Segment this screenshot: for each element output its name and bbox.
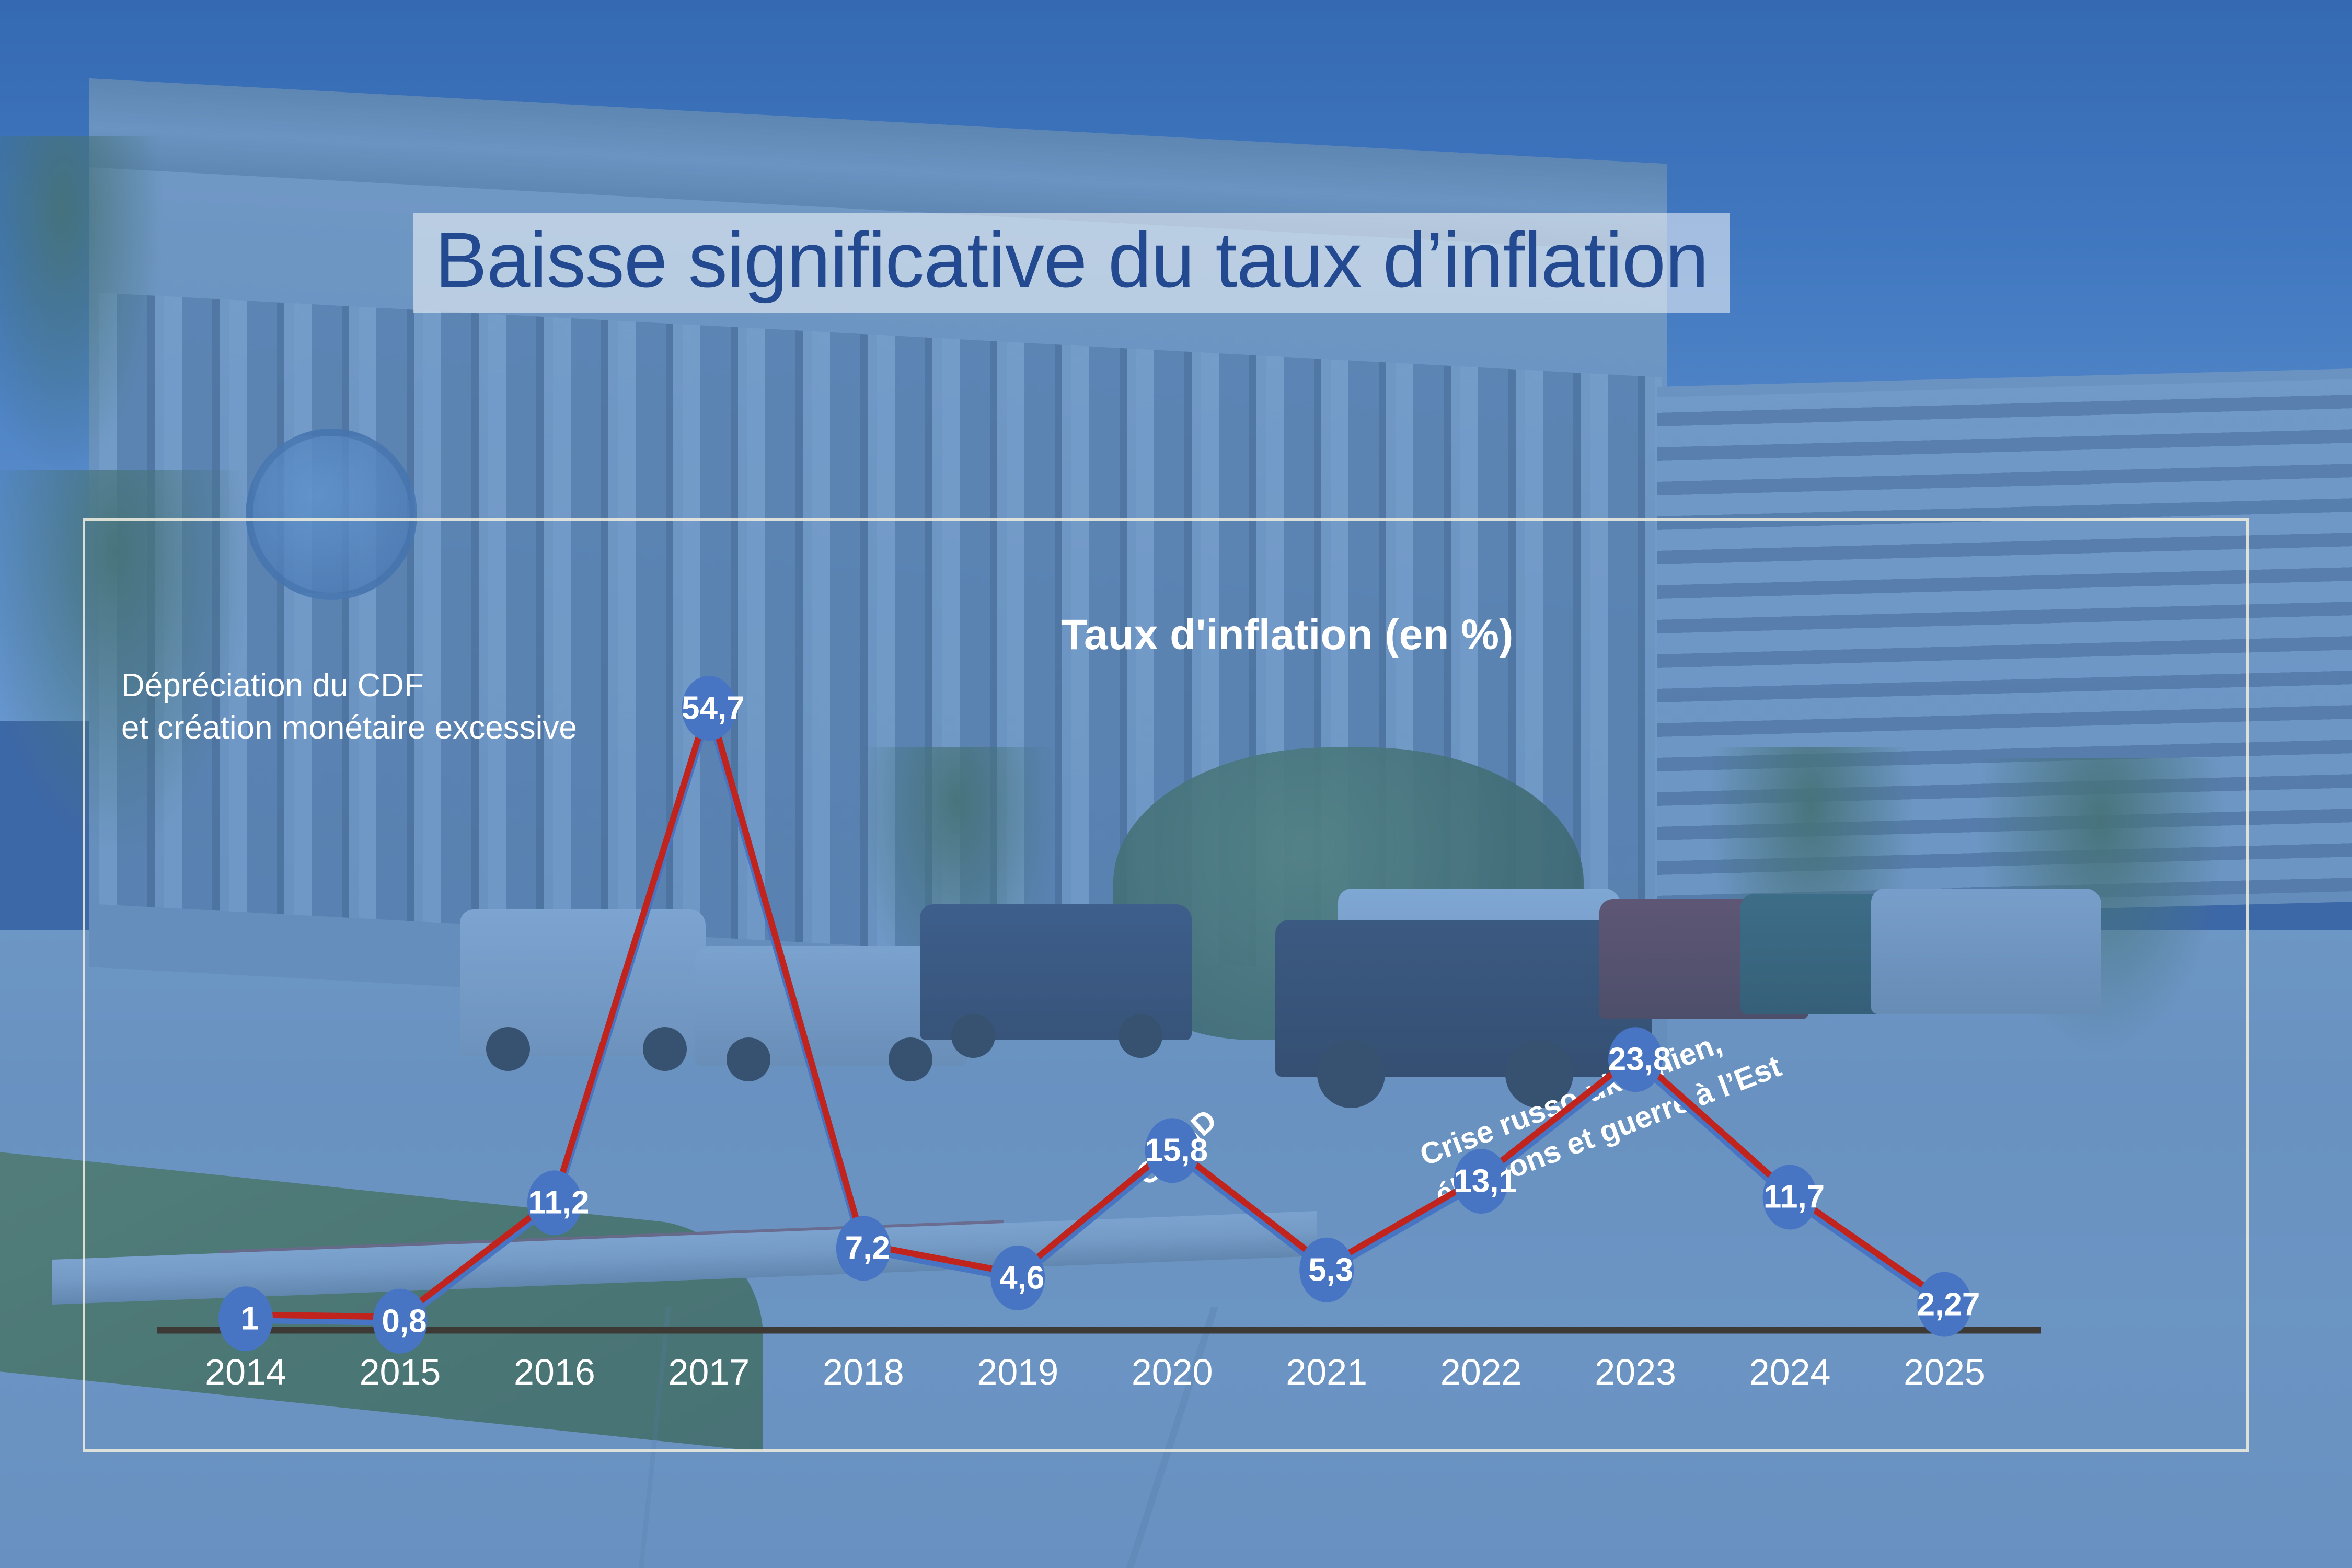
x-tick-label-2020: 2020 <box>1132 1351 1213 1393</box>
data-label-2024: 11,7 <box>1763 1179 1825 1216</box>
x-tick-label-2015: 2015 <box>360 1351 441 1393</box>
x-tick-label-2019: 2019 <box>977 1351 1058 1393</box>
data-label-2020: 15,8 <box>1145 1132 1208 1169</box>
x-tick-label-2022: 2022 <box>1440 1351 1522 1393</box>
slide-canvas: Baisse significative du taux d’inflation… <box>0 0 2352 1568</box>
x-tick-label-2016: 2016 <box>514 1351 595 1393</box>
x-tick-label-2017: 2017 <box>668 1351 750 1393</box>
data-label-2016: 11,2 <box>528 1184 589 1221</box>
data-label-2022: 13,1 <box>1454 1163 1517 1200</box>
data-label-2015: 0,8 <box>382 1302 426 1340</box>
series-line-shadow <box>246 708 1944 1321</box>
data-label-2025: 2,27 <box>1917 1286 1980 1323</box>
x-tick-label-2014: 2014 <box>205 1351 286 1393</box>
data-label-2019: 4,6 <box>999 1259 1044 1296</box>
data-label-2018: 7,2 <box>845 1230 890 1267</box>
data-label-2021: 5,3 <box>1308 1251 1353 1288</box>
x-tick-label-2025: 2025 <box>1904 1351 1985 1393</box>
x-tick-label-2021: 2021 <box>1286 1351 1367 1393</box>
inflation-line-chart <box>0 0 2352 1568</box>
data-label-2023: 23,8 <box>1608 1041 1671 1078</box>
x-tick-label-2024: 2024 <box>1749 1351 1831 1393</box>
x-tick-label-2018: 2018 <box>823 1351 904 1393</box>
x-tick-label-2023: 2023 <box>1595 1351 1676 1393</box>
data-label-2014: 1 <box>241 1300 259 1338</box>
data-label-2017: 54,7 <box>682 690 745 727</box>
series-line <box>246 704 1944 1317</box>
